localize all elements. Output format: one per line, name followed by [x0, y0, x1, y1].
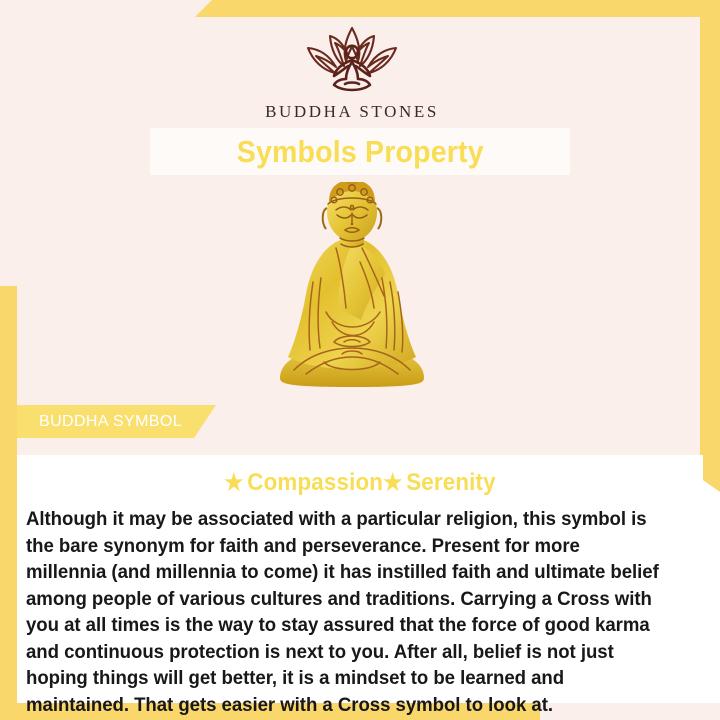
brand-name: BUDDHA STONES [0, 102, 704, 122]
description-paragraph: Although it may be associated with a par… [26, 506, 662, 718]
seated-golden-buddha-statue-icon [266, 182, 438, 394]
poster-canvas: BUDDHA STONES Symbols Property [0, 0, 720, 720]
star-icon-left: ★ [224, 469, 243, 495]
category-ribbon: BUDDHA SYMBOL [17, 405, 216, 438]
content-panel: ★Compassion★Serenity Although it may be … [17, 455, 703, 703]
category-ribbon-label: BUDDHA SYMBOL [39, 413, 182, 431]
tagline: ★Compassion★Serenity [41, 469, 679, 497]
brand-block: BUDDHA STONES [0, 22, 704, 122]
tagline-word-left: Compassion [247, 469, 383, 496]
page-title: Symbols Property [236, 134, 483, 170]
star-icon-right: ★ [383, 469, 402, 495]
tagline-word-right: Serenity [406, 469, 496, 496]
frame-top-accent [195, 0, 720, 17]
lotus-meditation-icon [286, 22, 418, 96]
title-plate: Symbols Property [150, 128, 570, 175]
hero-image [0, 182, 704, 394]
